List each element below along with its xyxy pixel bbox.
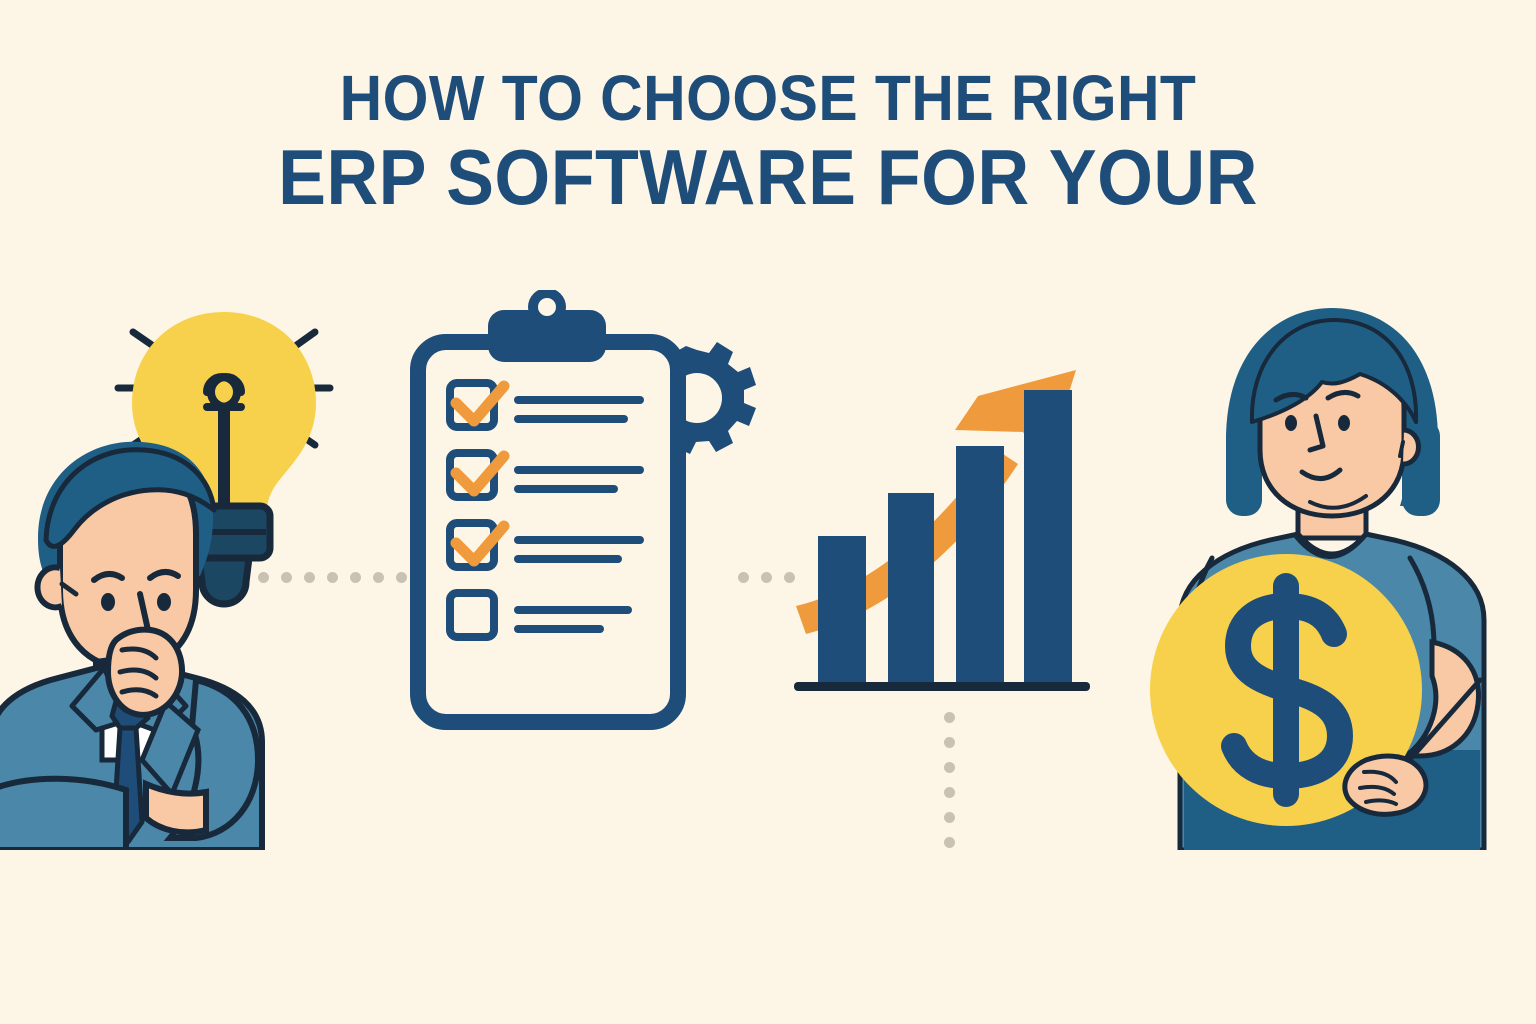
bar-4 xyxy=(1024,390,1072,686)
connector-dot xyxy=(350,572,361,583)
panel-budget: BUDGET xyxy=(1120,290,1536,870)
connector-dot xyxy=(944,762,955,773)
connector-dot xyxy=(373,572,384,583)
woman-eye-left-icon xyxy=(1285,415,1297,431)
connector-dot xyxy=(258,572,269,583)
thinking-businessman-with-lightbulb-icon xyxy=(0,290,390,850)
bar-1 xyxy=(818,536,866,686)
panel-features: FEATURES xyxy=(400,290,760,870)
bar-3 xyxy=(956,446,1004,686)
woman-hand-icon xyxy=(1345,756,1426,814)
connector-dot xyxy=(281,572,292,583)
woman-eye-right-icon xyxy=(1338,415,1350,431)
connector-dot xyxy=(761,572,772,583)
connector-dot xyxy=(944,712,955,723)
connector-dot xyxy=(944,837,955,848)
connector-dot xyxy=(944,787,955,798)
title-line-2: ERP SOFTWARE FOR YOUR xyxy=(61,134,1474,220)
bar-2 xyxy=(888,493,934,686)
chart-baseline xyxy=(794,682,1090,691)
clipboard-checklist-with-gear-icon xyxy=(400,290,760,850)
page-title: HOW TO CHOOSE THE RIGHT ERP SOFTWARE FOR… xyxy=(0,62,1536,220)
connector-dot xyxy=(944,812,955,823)
connector-dot xyxy=(944,737,955,748)
businessman-eye-left-icon xyxy=(101,593,115,611)
connector-dot xyxy=(738,572,749,583)
title-line-1: HOW TO CHOOSE THE RIGHT xyxy=(61,62,1474,134)
infographic-canvas: HOW TO CHOOSE THE RIGHT ERP SOFTWARE FOR… xyxy=(0,0,1536,1024)
woman-holding-dollar-coin-icon xyxy=(1120,290,1536,850)
connector-dot xyxy=(304,572,315,583)
connector-dot xyxy=(327,572,338,583)
connector-dots-scalability-budget xyxy=(944,712,955,862)
businessman-eye-right-icon xyxy=(157,593,171,611)
